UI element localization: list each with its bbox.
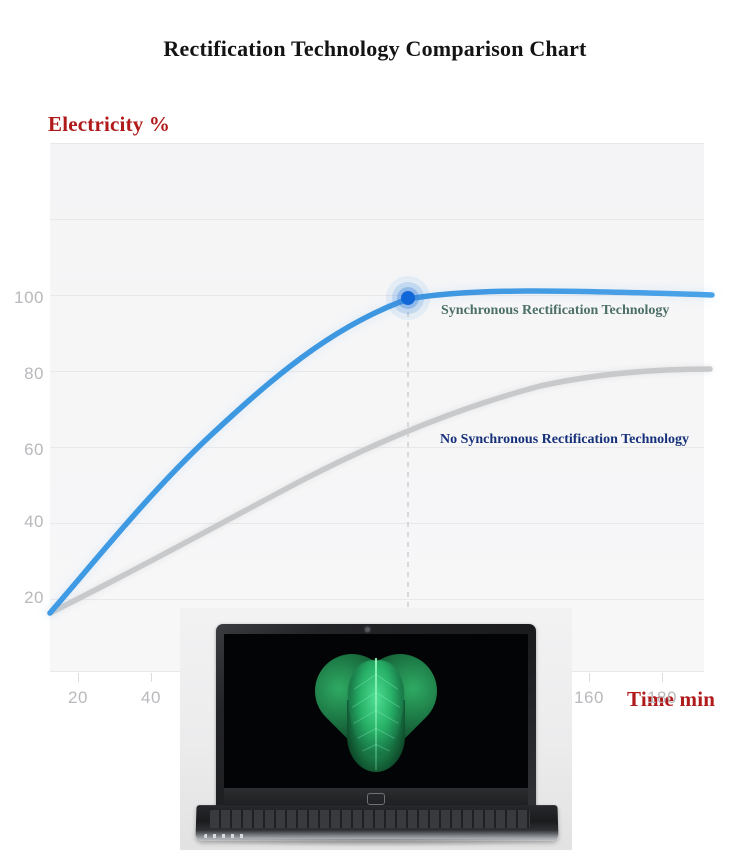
y-tick-label: 20 bbox=[0, 588, 44, 608]
gridline bbox=[50, 371, 704, 372]
x-tick-mark bbox=[78, 673, 79, 682]
y-tick-label: 80 bbox=[0, 364, 44, 384]
laptop-lid bbox=[216, 624, 536, 808]
webcam-bezel bbox=[224, 626, 528, 635]
webcam-icon bbox=[365, 627, 370, 632]
chart-screenshot: Rectification Technology Comparison Char… bbox=[0, 0, 750, 850]
plot-area bbox=[50, 143, 704, 672]
series-label-no-synchronous: No Synchronous Rectification Technology bbox=[440, 432, 689, 448]
laptop-keyboard bbox=[210, 810, 530, 828]
x-tick-label: 40 bbox=[128, 688, 174, 708]
laptop-screen bbox=[224, 634, 528, 788]
y-axis-title: Electricity % bbox=[48, 112, 170, 137]
x-tick-mark bbox=[662, 673, 663, 682]
x-tick-mark bbox=[151, 673, 152, 682]
x-tick-mark bbox=[589, 673, 590, 682]
home-button-icon bbox=[367, 793, 385, 805]
x-tick-label: 180 bbox=[639, 688, 685, 708]
laptop-shadow bbox=[188, 839, 564, 847]
status-led-row bbox=[204, 834, 244, 838]
laptop-photo bbox=[180, 608, 572, 850]
x-tick-label: 20 bbox=[55, 688, 101, 708]
gridline bbox=[50, 295, 704, 296]
x-tick-label: 160 bbox=[566, 688, 612, 708]
data-point-marker[interactable] bbox=[386, 276, 430, 320]
gridline bbox=[50, 599, 704, 600]
y-tick-label: 100 bbox=[0, 288, 44, 308]
y-tick-label: 60 bbox=[0, 440, 44, 460]
marker-dot bbox=[401, 291, 415, 305]
leaf-wallpaper-icon bbox=[315, 648, 437, 776]
page-title: Rectification Technology Comparison Char… bbox=[0, 36, 750, 62]
y-tick-label: 40 bbox=[0, 512, 44, 532]
series-label-synchronous: Synchronous Rectification Technology bbox=[441, 303, 669, 319]
gridline bbox=[50, 523, 704, 524]
gridline bbox=[50, 219, 704, 220]
gridline bbox=[50, 143, 704, 144]
